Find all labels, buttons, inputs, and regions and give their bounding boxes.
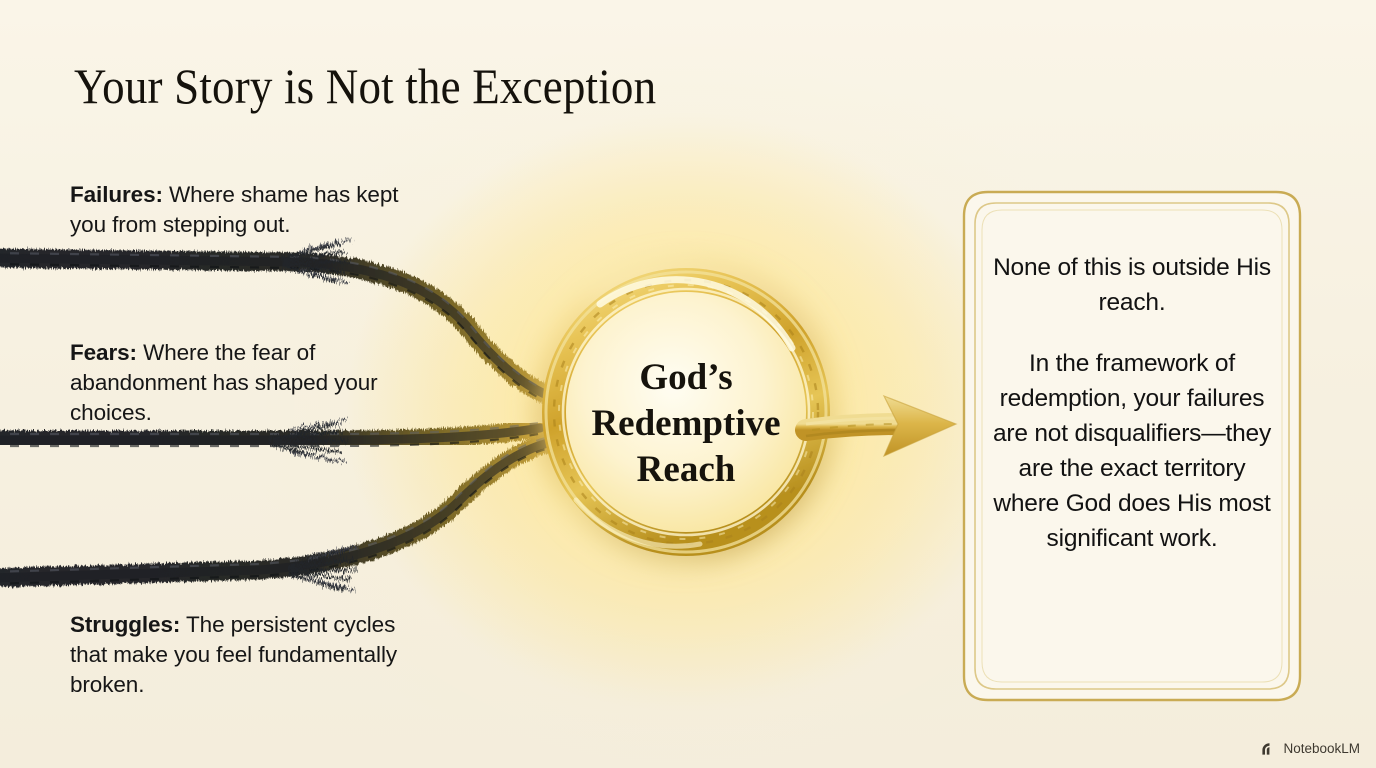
ring-label-line-1: God’s (556, 355, 816, 401)
label-fears: Fears: Where the fear of abandonment has… (70, 338, 410, 428)
label-failures-term: Failures: (70, 182, 163, 207)
ring-label-line-2: Redemptive (556, 401, 816, 447)
infographic-canvas: Your Story is Not the Exception Failures… (0, 0, 1376, 768)
card-paragraph-2: In the framework of redemption, your fai… (988, 346, 1276, 556)
notebooklm-icon (1261, 742, 1278, 756)
watermark-label: NotebookLM (1283, 741, 1360, 756)
watermark: NotebookLM (1261, 741, 1360, 756)
label-struggles-term: Struggles: (70, 612, 180, 637)
redemption-card: None of this is outside His reach. In th… (962, 190, 1302, 702)
label-failures: Failures: Where shame has kept you from … (70, 180, 410, 240)
ring-label-line-3: Reach (556, 447, 816, 493)
ring-label: God’s Redemptive Reach (556, 355, 816, 493)
page-title: Your Story is Not the Exception (74, 57, 656, 115)
label-fears-term: Fears: (70, 340, 137, 365)
card-text: None of this is outside His reach. In th… (988, 250, 1276, 556)
card-paragraph-1: None of this is outside His reach. (988, 250, 1276, 320)
label-struggles: Struggles: The persistent cycles that ma… (70, 610, 410, 700)
